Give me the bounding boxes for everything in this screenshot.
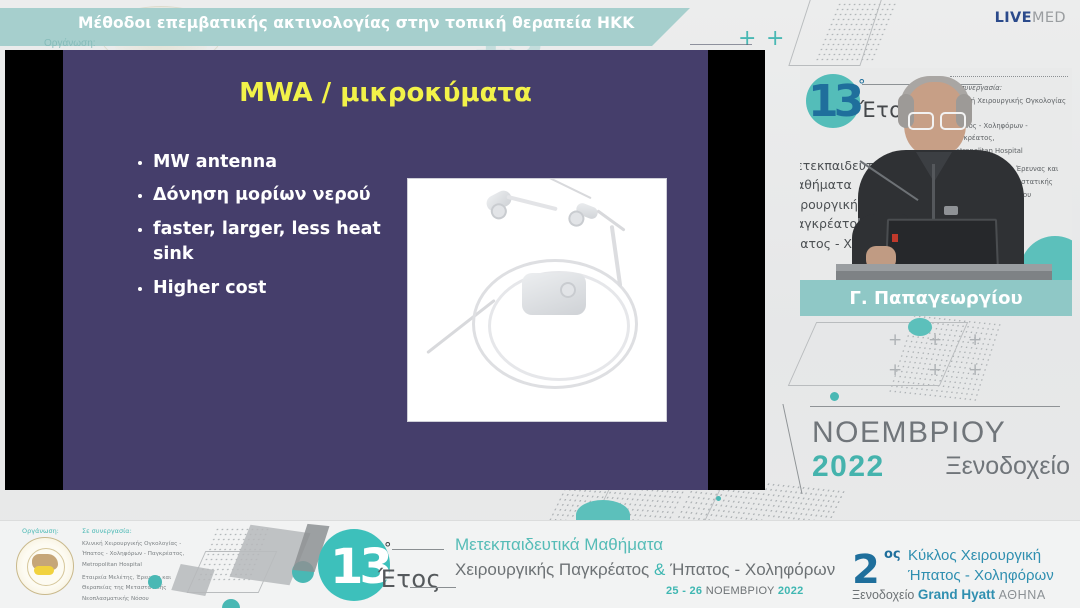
event-venue-word: Ξενοδοχείο — [945, 452, 1070, 481]
decor-line-header — [690, 44, 752, 45]
seal-accent-shape — [34, 566, 54, 575]
event-subtitle-part-b: Ήπατος - Χοληφόρων — [670, 560, 835, 579]
event-13-logo-line-bottom — [410, 587, 456, 588]
event-date-year: 2022 — [778, 585, 804, 597]
venue-info: Ξενοδοχείο Grand Hyatt ΑΘΗΝΑ — [852, 587, 1046, 602]
laptop-indicator — [892, 234, 898, 242]
decor-line-right — [810, 406, 1060, 407]
speaker-glasses-right — [940, 112, 966, 130]
livemed-logo-live: LIVE — [995, 10, 1032, 26]
venue-label: Ξενοδοχείο — [852, 588, 914, 602]
event-year: 2022 — [812, 450, 885, 483]
podium-body — [836, 271, 1052, 280]
venue-name: Grand Hyatt — [918, 587, 995, 602]
speaker-glasses-left — [908, 112, 934, 130]
cycle-number-suffix: ος — [884, 547, 901, 562]
speaker-name: Γ. Παπαγεωργίου — [800, 288, 1072, 309]
event-date: 25 - 26 ΝΟΕΜΒΡΙΟΥ 2022 — [666, 585, 804, 597]
decor-dot-teal-2 — [716, 496, 721, 501]
cycle-title-line-1: Κύκλος Χειρουργική — [908, 547, 1041, 564]
livemed-logo-med: MED — [1032, 10, 1066, 26]
page-title: Μέθοδοι επεμβατικής ακτινολογίας στην το… — [78, 14, 678, 32]
plus-icon-4: + — [928, 332, 942, 349]
antenna-connector — [522, 273, 586, 315]
decor-dot-teal — [830, 392, 839, 401]
event-subtitle-line-1: Μετεκπαιδευτικά Μαθήματα — [455, 535, 663, 555]
speaker-jacket-logo — [944, 206, 958, 215]
antenna-hub — [484, 188, 514, 214]
speaker-video-feed[interactable]: 13 ° Έτος ετεκπαιδευτικά αθήματα ιρουργι… — [800, 68, 1072, 280]
event-13-logo-degree: ° — [384, 539, 392, 557]
event-subtitle-amp: & — [654, 560, 665, 579]
bottom-decor-dot-3 — [222, 599, 240, 608]
antenna-needle-2 — [540, 178, 591, 199]
list-item: Higher cost — [153, 276, 410, 301]
header-org-label: Οργάνωση: — [44, 38, 96, 49]
presentation-slide[interactable]: MWA / μικροκύματα MW antenna Δόνηση μορί… — [63, 50, 708, 490]
event-date-days: 25 - 26 — [666, 585, 702, 597]
venue-city: ΑΘΗΝΑ — [999, 588, 1046, 602]
bottom-coop-label: Σε συνεργασία: — [82, 527, 132, 535]
bottom-org-label: Οργάνωση: — [22, 527, 59, 535]
list-item: faster, larger, less heat sink — [153, 217, 410, 268]
livemed-logo[interactable]: LIVEMED — [995, 10, 1066, 26]
slide-image-mwa-antenna — [407, 178, 667, 422]
plus-icon-1: + — [738, 28, 756, 50]
event-subtitle-part-a: Χειρουργικής Παγκρέατος — [455, 560, 649, 579]
backdrop-logo-degree: ° — [858, 76, 866, 94]
slide-title: MWA / μικροκύματα — [63, 78, 708, 108]
backdrop-dotted-rule — [950, 76, 1068, 77]
slide-letterbox: MWA / μικροκύματα MW antenna Δόνηση μορί… — [5, 50, 765, 490]
plus-icon-6: + — [888, 362, 902, 379]
event-month: ΝΟΕΜΒΡΙΟΥ — [812, 416, 1006, 449]
event-date-month: ΝΟΕΜΒΡΙΟΥ — [706, 585, 775, 597]
speaker-zipper — [932, 164, 935, 224]
bottom-decor-dot-1 — [148, 575, 162, 589]
plus-icon-2: + — [766, 28, 784, 50]
plus-icon-3: + — [888, 332, 902, 349]
plus-icon-7: + — [928, 362, 942, 379]
organizer-seal-logo — [16, 537, 74, 595]
list-item: Δόνηση μορίων νερού — [153, 183, 410, 208]
event-subtitle-line-2: Χειρουργικής Παγκρέατος & Ήπατος - Χοληφ… — [455, 560, 835, 580]
event-13-logo-line-top — [392, 549, 444, 550]
broadcast-player: + + + + + + + + 13 Οργάνωση: Μέθοδοι επε… — [0, 0, 1080, 608]
antenna-tube-top — [506, 195, 557, 211]
backdrop-logo-number: 13 — [808, 76, 859, 127]
backdrop-right-heading: Σε συνεργασία: — [950, 82, 1068, 95]
cycle-title-line-2: Ήπατος - Χοληφόρων — [908, 567, 1054, 584]
list-item: MW antenna — [153, 150, 410, 175]
plus-icon-8: + — [968, 362, 982, 379]
slide-bullet-list: MW antenna Δόνηση μορίων νερού faster, l… — [135, 150, 410, 309]
bottom-banner: Οργάνωση: Σε συνεργασία: Κλινική Χειρουρ… — [0, 520, 1080, 608]
plus-icon-5: + — [968, 332, 982, 349]
event-13-logo-etos: Έτος — [378, 565, 441, 593]
